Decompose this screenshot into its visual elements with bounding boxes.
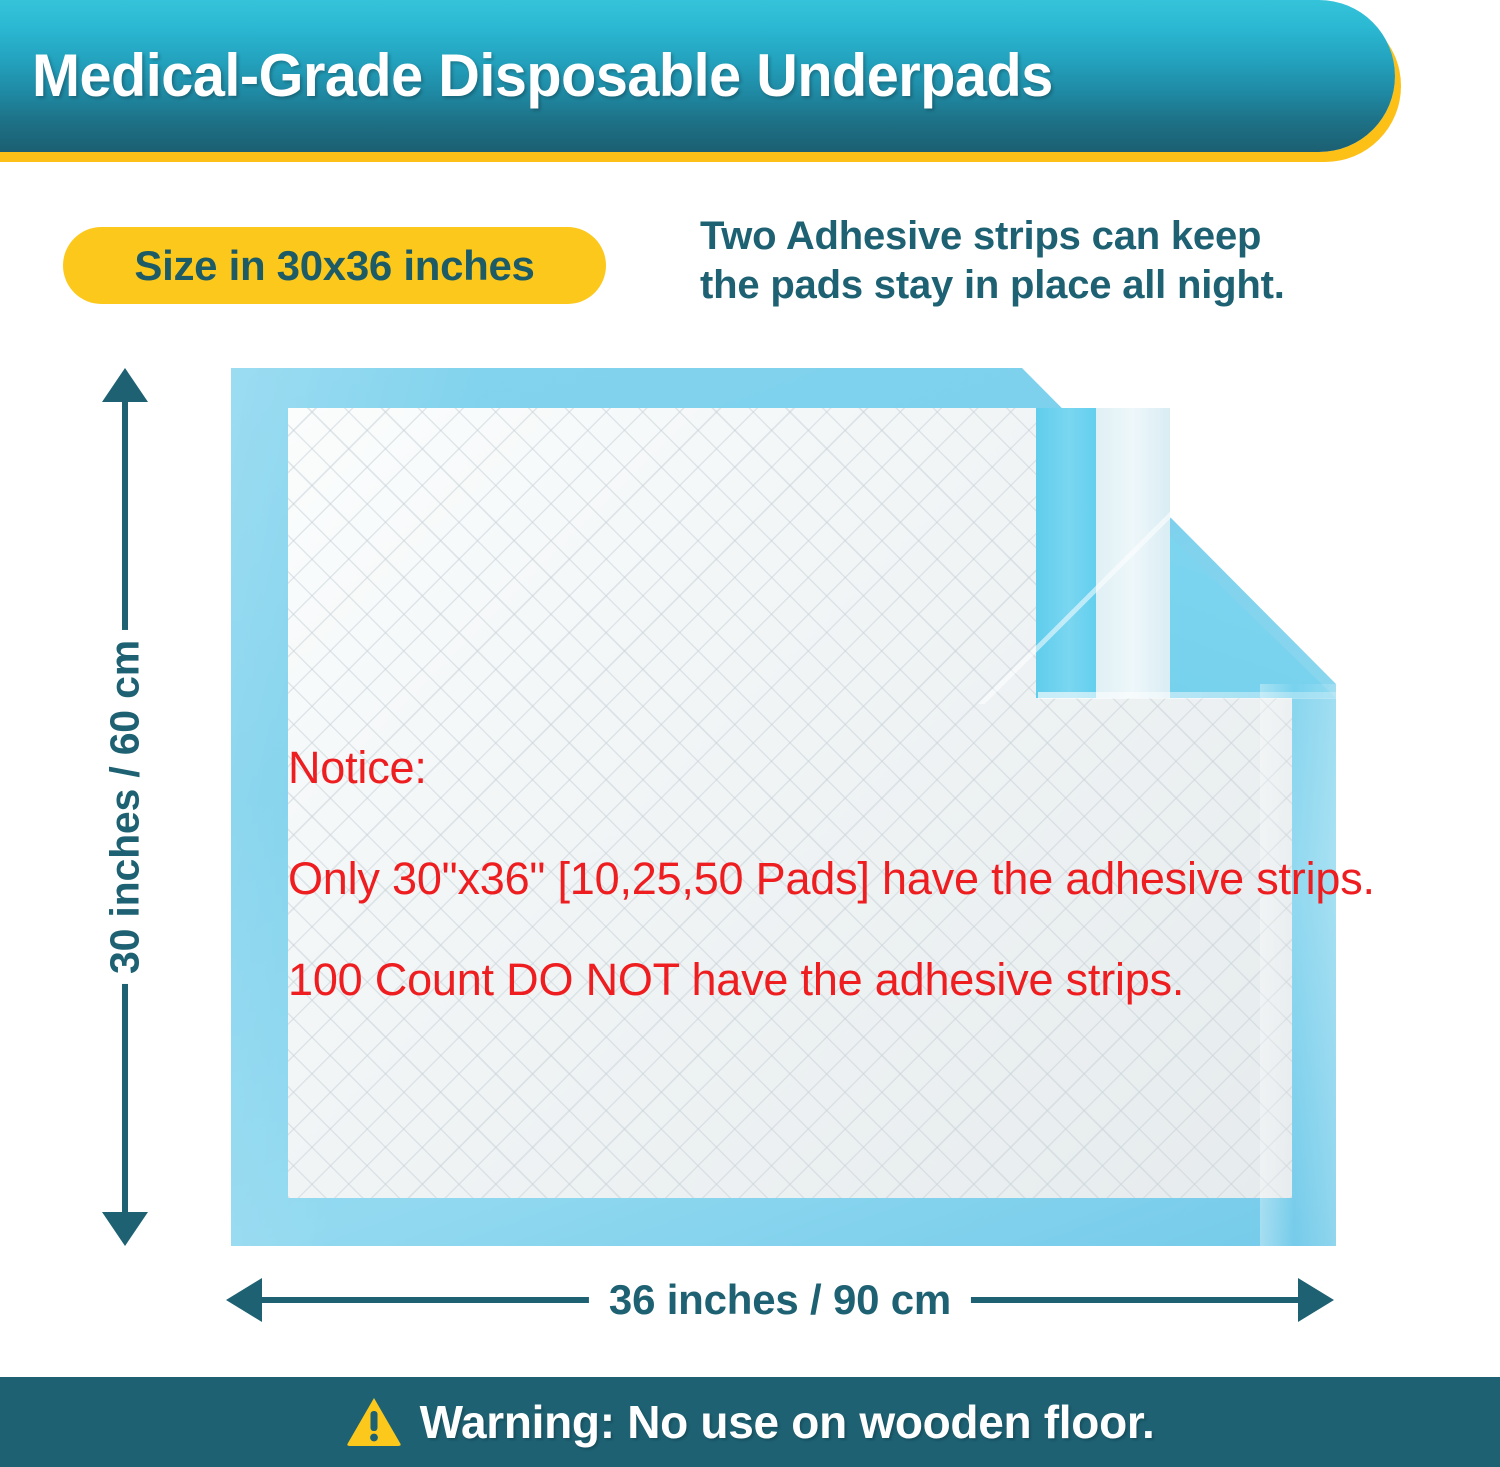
horizontal-dimension-label: 36 inches / 90 cm (589, 1274, 971, 1326)
horizontal-dimension: 36 inches / 90 cm (226, 1272, 1334, 1328)
adhesive-strip-1 (1036, 408, 1096, 698)
size-badge-label: Size in 30x36 inches (134, 242, 534, 290)
page-title: Medical-Grade Disposable Underpads (32, 46, 1095, 106)
vertical-dimension: 30 inches / 60 cm (95, 368, 155, 1246)
warning-label: Warning: No use on wooden floor. (420, 1395, 1155, 1449)
adhesive-strip-2 (1096, 408, 1170, 698)
warning-triangle-icon (346, 1396, 402, 1448)
notice-heading: Notice: (288, 745, 1375, 790)
adhesive-note-line-1: Two Adhesive strips can keep (700, 212, 1370, 261)
size-badge: Size in 30x36 inches (63, 227, 606, 304)
warning-bar: Warning: No use on wooden floor. (0, 1377, 1500, 1467)
arrow-down-icon (102, 1212, 148, 1246)
arrow-right-icon (1298, 1278, 1334, 1322)
notice-line-1: Only 30"x36" [10,25,50 Pads] have the ad… (288, 856, 1375, 901)
notice-block: Notice: Only 30"x36" [10,25,50 Pads] hav… (288, 745, 1375, 1002)
adhesive-note: Two Adhesive strips can keep the pads st… (700, 212, 1370, 310)
header-banner: Medical-Grade Disposable Underpads (0, 0, 1395, 152)
vertical-dimension-label: 30 inches / 60 cm (98, 630, 153, 984)
adhesive-note-line-2: the pads stay in place all night. (700, 261, 1370, 310)
notice-line-2: 100 Count DO NOT have the adhesive strip… (288, 957, 1375, 1002)
page-title-text: Medical-Grade Disposable Underpads (32, 46, 1053, 106)
product-infographic: Medical-Grade Disposable Underpads Size … (0, 0, 1500, 1467)
